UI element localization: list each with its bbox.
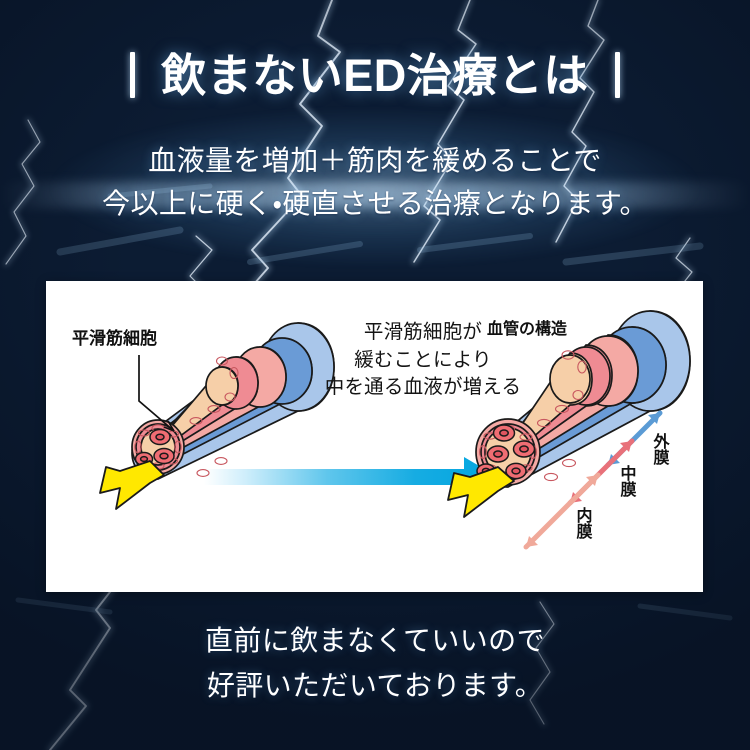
layer-label-media-char: 中膜 — [617, 465, 633, 497]
layer-label-intima: 内膜 — [573, 507, 589, 543]
center-line-2: 緩むことにより — [318, 347, 528, 375]
footer-line-2: 好評いただいております。 — [0, 663, 750, 708]
layer-label-intima-char: 内膜 — [573, 507, 589, 539]
center-line-3: 中を通る血液が増える — [318, 374, 528, 402]
right-flow-arrow-icon — [448, 467, 514, 517]
layer-label-media: 中膜 — [617, 465, 633, 501]
layer-label-adventitia: 外膜 — [650, 433, 666, 469]
smooth-muscle-label: 平滑筋細胞 — [72, 330, 157, 349]
footer-line-1: 直前に飲まなくていいので — [0, 618, 750, 663]
title-rule-right-icon — [615, 52, 620, 98]
subtitle: 血液量を増加＋筋肉を緩めることで 今以上に硬く・硬直させる治療となります。 — [0, 140, 750, 225]
header: 飲まないED治療とは — [0, 52, 750, 98]
page-title: 飲まないED治療とは — [161, 53, 589, 98]
subtitle-line-2: 今以上に硬く・硬直させる治療となります。 — [0, 183, 750, 226]
center-explanation: 平滑筋細胞が 緩むことにより 中を通る血液が増える — [318, 319, 528, 402]
layer-label-adventitia-char: 外膜 — [650, 433, 666, 465]
left-flow-arrow-icon — [100, 461, 164, 509]
center-line-1: 平滑筋細胞が — [318, 319, 528, 347]
diagram-panel: 平滑筋細胞 血管の構造 平滑筋細胞が 緩むことにより 中を通る血液が増える 外膜… — [46, 281, 703, 592]
title-rule-left-icon — [130, 52, 135, 98]
footer: 直前に飲まなくていいので 好評いただいております。 — [0, 618, 750, 709]
subtitle-line-1: 血液量を増加＋筋肉を緩めることで — [0, 140, 750, 183]
promo-banner: 飲まないED治療とは 血液量を増加＋筋肉を緩めることで 今以上に硬く・硬直させる… — [0, 0, 750, 750]
